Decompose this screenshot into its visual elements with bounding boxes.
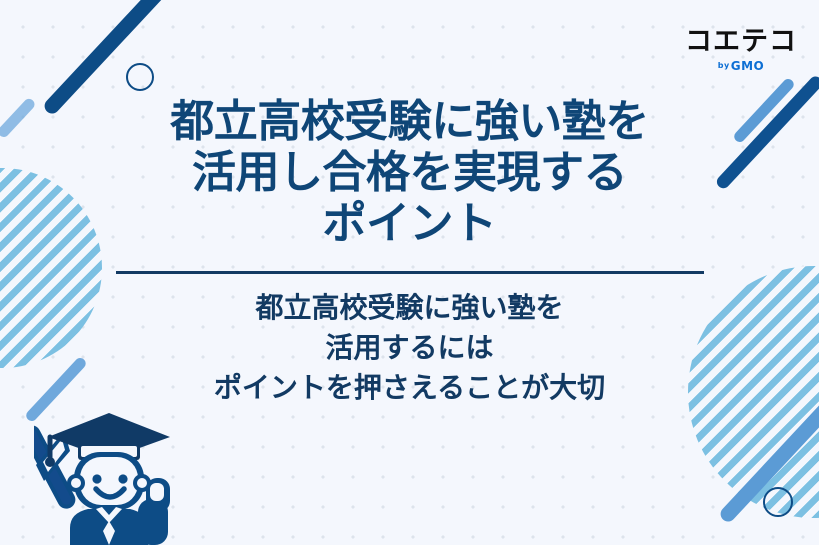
page-subtitle-line-2: 活用するには bbox=[0, 328, 819, 368]
circle-outline-top-icon bbox=[126, 63, 154, 91]
brand-logo-by-prefix: by bbox=[718, 61, 730, 70]
circle-outline-bottom-icon bbox=[763, 487, 793, 517]
brand-logo-text: コエテコ bbox=[685, 28, 797, 55]
eyecatch-banner: コエテコ byGMO 都立高校受験に強い塾を 活用し合格を実現する ポイント 都… bbox=[0, 0, 819, 545]
content-block: 都立高校受験に強い塾を 活用し合格を実現する ポイント 都立高校受験に強い塾を … bbox=[0, 96, 819, 407]
brand-logo-gmo: GMO bbox=[731, 59, 765, 73]
page-title-line-1: 都立高校受験に強い塾を bbox=[60, 96, 759, 147]
page-subtitle-line-1: 都立高校受験に強い塾を bbox=[0, 288, 819, 328]
brand-logo: コエテコ byGMO bbox=[685, 28, 797, 72]
brand-logo-parent: byGMO bbox=[685, 60, 797, 72]
body-suit-icon bbox=[70, 507, 148, 545]
page-title: 都立高校受験に強い塾を 活用し合格を実現する ポイント bbox=[0, 96, 819, 249]
face-icon bbox=[67, 452, 151, 510]
title-divider bbox=[116, 271, 704, 274]
page-subtitle: 都立高校受験に強い塾を 活用するには ポイントを押さえることが大切 bbox=[0, 288, 819, 407]
page-title-line-2: 活用し合格を実現する bbox=[60, 147, 759, 198]
page-title-line-3: ポイント bbox=[60, 198, 759, 249]
graduate-student-icon bbox=[34, 395, 184, 545]
